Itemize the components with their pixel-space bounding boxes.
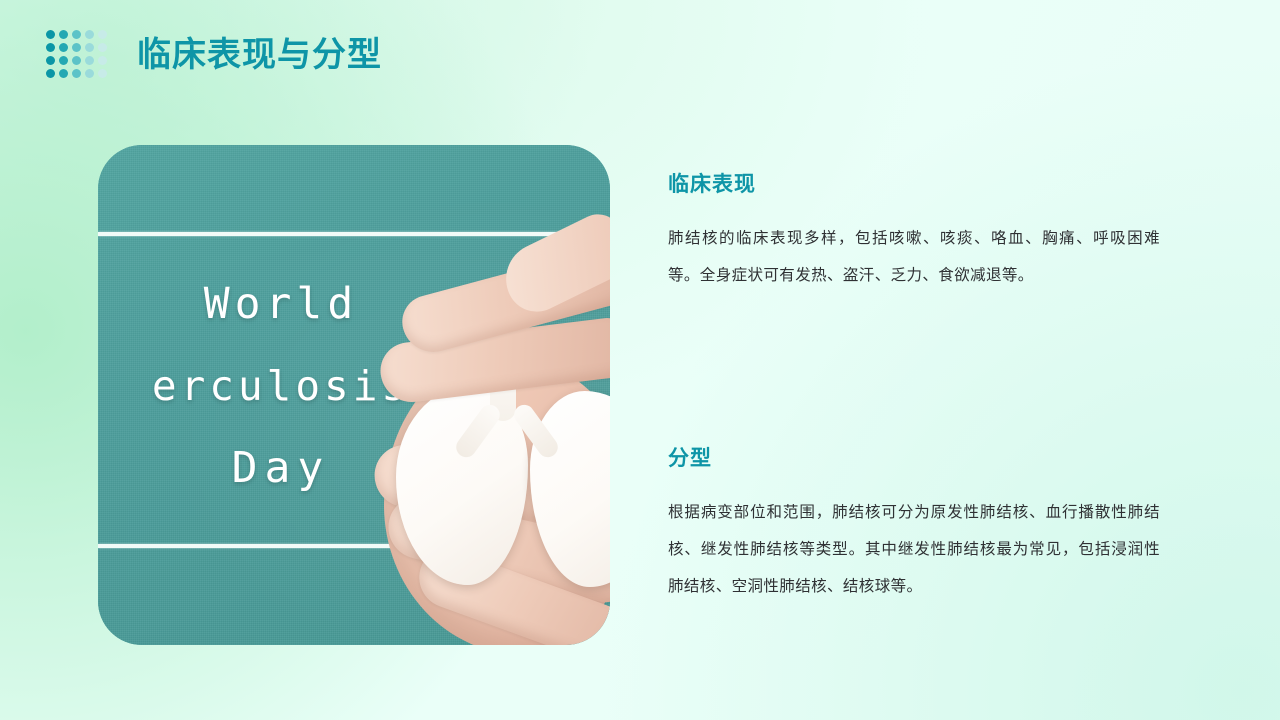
section-body: 肺结核的临床表现多样，包括咳嗽、咳痰、咯血、胸痛、呼吸困难等。全身症状可有发热、… [668,220,1160,294]
section-title: 分型 [668,442,1160,472]
section-clinical-manifestation: 临床表现 肺结核的临床表现多样，包括咳嗽、咳痰、咯血、胸痛、呼吸困难等。全身症状… [668,168,1160,294]
page-title: 临床表现与分型 [137,38,382,72]
hands-holding-paper-lungs-illustration [288,205,610,645]
section-body: 根据病变部位和范围，肺结核可分为原发性肺结核、血行播散性肺结核、继发性肺结核等类… [668,494,1160,605]
content-column: 临床表现 肺结核的临床表现多样，包括咳嗽、咳痰、咯血、胸痛、呼吸困难等。全身症状… [668,168,1160,605]
slide-canvas: 临床表现与分型 World erculosis Day [0,0,1280,720]
section-title: 临床表现 [668,168,1160,198]
dot-grid-icon [46,30,109,80]
section-classification: 分型 根据病变部位和范围，肺结核可分为原发性肺结核、血行播散性肺结核、继发性肺结… [668,442,1160,605]
media-card: World erculosis Day [98,145,610,645]
slide-header: 临床表现与分型 [0,0,1280,110]
